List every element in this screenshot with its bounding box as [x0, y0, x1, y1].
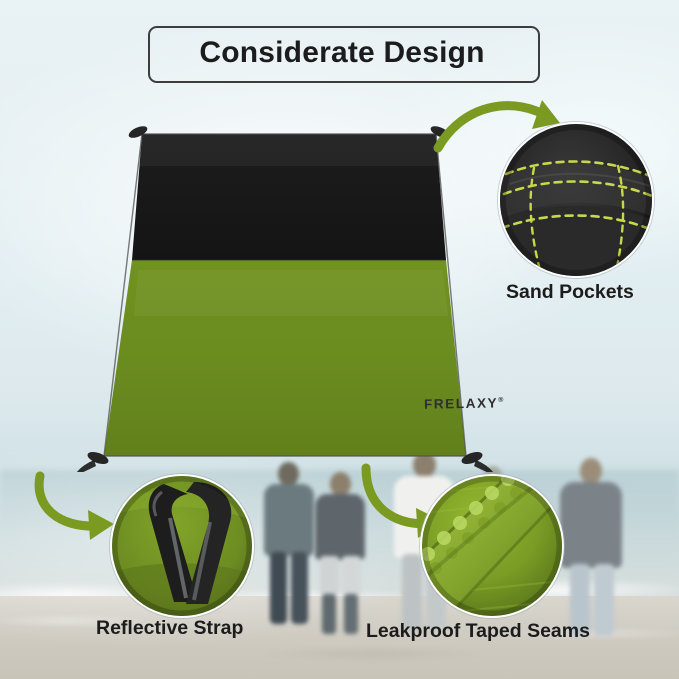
- brand-logo-text: FRELAXY®: [424, 395, 504, 411]
- callout-reflective-strap: [110, 474, 254, 618]
- brand-registered-mark: ®: [498, 397, 503, 404]
- page-title: Considerate Design: [160, 32, 524, 74]
- callout-label-leakproof-taped-seams: Leakproof Taped Seams: [366, 620, 590, 643]
- callout-sand-pockets: [498, 122, 654, 278]
- callout-label-reflective-strap: Reflective Strap: [96, 617, 243, 640]
- brand-name: FRELAXY: [424, 395, 498, 411]
- beach-mat-illustration: [38, 120, 566, 472]
- product-feature-image: Considerate Design: [0, 0, 679, 679]
- person-silhouette: [556, 458, 628, 636]
- callout-leakproof-taped-seams: [420, 474, 564, 618]
- callout-label-sand-pockets: Sand Pockets: [506, 281, 634, 304]
